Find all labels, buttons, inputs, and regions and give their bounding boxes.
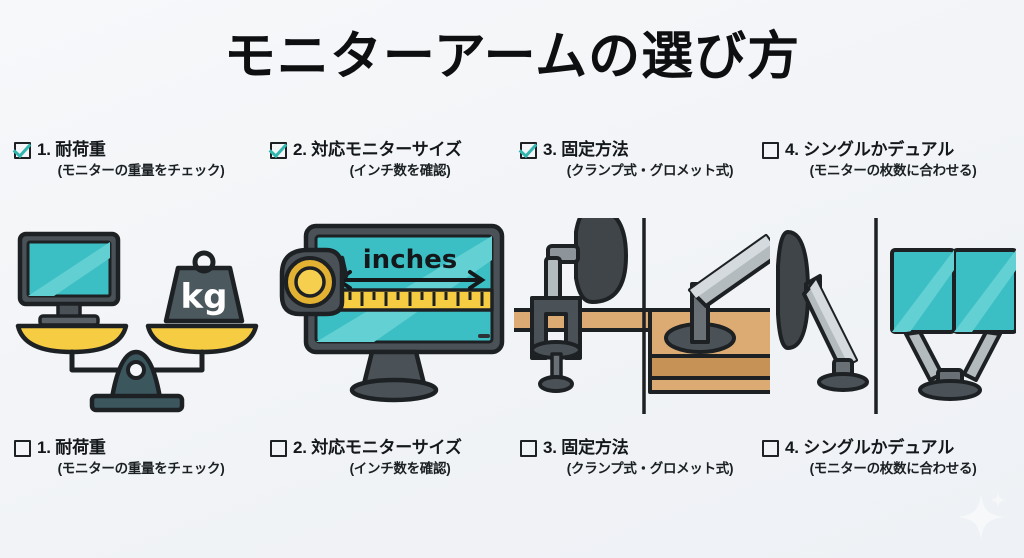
sparkle-icon: [954, 490, 1008, 544]
single-and-dual-monitor-arm-illustration: [760, 218, 1016, 418]
weight-unit-label: kg: [181, 277, 228, 317]
checklist-subtext: (インチ数を確認): [270, 162, 514, 180]
section-column-1: 1. 耐荷重 (モニターの重量をチェック): [8, 140, 264, 520]
checkbox-unchecked-icon[interactable]: [14, 440, 31, 457]
section-column-3: 3. 固定方法 (クランプ式・グロメット式): [514, 140, 770, 520]
page-title: モニターアームの選び方: [0, 26, 1024, 88]
section-column-4: 4. シングルかデュアル (モニターの枚数に合わせる): [760, 140, 1016, 520]
checklist-headline-label: 1. 耐荷重: [37, 438, 106, 458]
checklist-headline-label: 4. シングルかデュアル: [785, 438, 954, 458]
checklist-item-bottom-1[interactable]: 1. 耐荷重 (モニターの重量をチェック): [8, 438, 264, 478]
inches-label: inches: [363, 245, 457, 275]
checklist-headline-row: 4. シングルかデュアル: [762, 140, 1010, 160]
balance-scale-monitor-weight-illustration: kg: [8, 218, 264, 418]
checklist-subtext: (クランプ式・グロメット式): [520, 460, 764, 478]
checkbox-checked-icon[interactable]: [14, 142, 31, 159]
checklist-headline-label: 2. 対応モニターサイズ: [293, 140, 462, 160]
checkbox-checked-icon[interactable]: [520, 142, 537, 159]
checklist-headline-label: 2. 対応モニターサイズ: [293, 438, 462, 458]
checklist-headline-row: 3. 固定方法: [520, 438, 764, 458]
checklist-headline-label: 3. 固定方法: [543, 140, 629, 160]
checklist-headline-row: 1. 耐荷重: [14, 140, 258, 160]
section-column-2: 2. 対応モニターサイズ (インチ数を確認): [264, 140, 520, 520]
checklist-subtext: (インチ数を確認): [270, 460, 514, 478]
checklist-subtext: (モニターの枚数に合わせる): [766, 162, 1010, 180]
checklist-subtext: (モニターの重量をチェック): [14, 460, 258, 478]
infographic-page: モニターアームの選び方 1. 耐荷重 (モニターの重量をチェック): [0, 0, 1024, 558]
checklist-item-top-4[interactable]: 4. シングルかデュアル (モニターの枚数に合わせる): [760, 140, 1016, 180]
checklist-headline-row: 3. 固定方法: [520, 140, 764, 160]
checklist-item-top-2[interactable]: 2. 対応モニターサイズ (インチ数を確認): [264, 140, 520, 180]
checklist-headline-row: 2. 対応モニターサイズ: [270, 438, 514, 458]
checklist-headline-label: 4. シングルかデュアル: [785, 140, 954, 160]
checklist-item-bottom-2[interactable]: 2. 対応モニターサイズ (インチ数を確認): [264, 438, 520, 478]
checklist-subtext: (モニターの枚数に合わせる): [766, 460, 1010, 478]
checklist-headline-row: 4. シングルかデュアル: [762, 438, 1010, 458]
checkbox-unchecked-icon[interactable]: [270, 440, 287, 457]
checklist-item-bottom-4[interactable]: 4. シングルかデュアル (モニターの枚数に合わせる): [760, 438, 1016, 478]
monitor-tape-measure-illustration: inches: [264, 218, 520, 418]
checkbox-unchecked-icon[interactable]: [762, 440, 779, 457]
checklist-headline-row: 2. 対応モニターサイズ: [270, 140, 514, 160]
checklist-item-top-3[interactable]: 3. 固定方法 (クランプ式・グロメット式): [514, 140, 770, 180]
checklist-item-top-1[interactable]: 1. 耐荷重 (モニターの重量をチェック): [8, 140, 264, 180]
checklist-headline-label: 1. 耐荷重: [37, 140, 106, 160]
checklist-subtext: (モニターの重量をチェック): [14, 162, 258, 180]
checklist-headline-row: 1. 耐荷重: [14, 438, 258, 458]
checklist-item-bottom-3[interactable]: 3. 固定方法 (クランプ式・グロメット式): [514, 438, 770, 478]
checkbox-unchecked-icon[interactable]: [762, 142, 779, 159]
checklist-subtext: (クランプ式・グロメット式): [520, 162, 764, 180]
checkbox-unchecked-icon[interactable]: [520, 440, 537, 457]
clamp-and-grommet-mount-illustration: [514, 218, 770, 418]
checklist-headline-label: 3. 固定方法: [543, 438, 629, 458]
checkbox-checked-icon[interactable]: [270, 142, 287, 159]
